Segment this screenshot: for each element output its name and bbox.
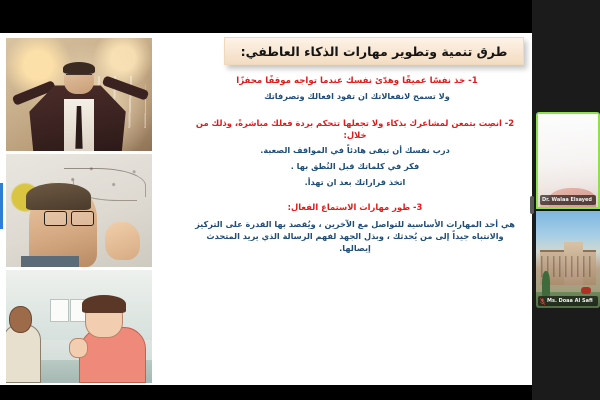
point-1-line-1: ولا تسمح لانفعالاتك ان تقود افعالك وتصرف…: [192, 91, 522, 103]
slide-title: طرق تنمية وتطوير مهارات الذكاء العاطفي:: [241, 44, 508, 59]
video-bg-palm-tree: [542, 271, 550, 296]
thinking-man-brain-gears-photo: [6, 154, 152, 267]
video-tile-speaker[interactable]: Dr. Walaa Elsayed: [536, 112, 600, 209]
point-1-heading: 1- خذ نفسًا عميقًا وهدّئ نفسك عندما تواج…: [192, 75, 522, 87]
point-2-heading: 2- انصِت بتمعن لمشاعرك بذكاء ولا تجعلها …: [192, 117, 518, 141]
point-3-heading: 3- طور مهارات الاستماع الفعال:: [192, 201, 518, 213]
businessman-arms-open-photo: [6, 38, 152, 151]
shared-slide: طرق تنمية وتطوير مهارات الذكاء العاطفي: …: [0, 33, 532, 385]
video-tile-name: Dr. Walaa Elsayed: [542, 197, 592, 203]
slide-image-column: [0, 33, 152, 385]
point-2-line-2: فكر في كلماتك قبل النُطق بها .: [192, 161, 518, 173]
screen-share-stage: طرق تنمية وتطوير مهارات الذكاء العاطفي: …: [0, 0, 532, 400]
photo-hair: [63, 62, 95, 74]
illustration-person-right-hair: [82, 295, 126, 313]
meeting-app-root: طرق تنمية وتطوير مهارات الذكاء العاطفي: …: [0, 0, 600, 400]
video-tile-participant[interactable]: Ms. Doaa Al Safi: [536, 211, 600, 308]
point-3-line-1: هي أحد المهارات الأساسية للتواصل مع الآخ…: [190, 219, 520, 255]
photo-glasses: [44, 211, 94, 225]
illustration-picture-frame: [50, 299, 69, 322]
photo-hair: [26, 183, 90, 210]
mic-muted-icon: [540, 298, 545, 305]
point-2-line-1: درب نفسك أن تبقى هادئاً في المواقف الصعب…: [192, 145, 518, 157]
slide-title-banner: طرق تنمية وتطوير مهارات الذكاء العاطفي:: [224, 37, 524, 65]
video-bg-car: [581, 287, 591, 295]
illustration-person-left-head: [9, 306, 32, 333]
photo-hand: [105, 222, 140, 260]
slide-left-accent-bar: [0, 183, 3, 229]
photo-collar: [21, 256, 79, 267]
video-tile-name-badge: Dr. Walaa Elsayed: [540, 195, 596, 205]
illustration-person-right-hand: [69, 338, 88, 358]
illustration-person-left-body: [6, 324, 41, 383]
two-people-listening-illustration: [6, 270, 152, 383]
slide-text-area: طرق تنمية وتطوير مهارات الذكاء العاطفي: …: [152, 33, 532, 385]
video-tile-name: Ms. Doaa Al Safi: [547, 298, 593, 304]
video-panel-drag-handle[interactable]: [530, 196, 534, 214]
video-tile-name-badge: Ms. Doaa Al Safi: [538, 296, 598, 306]
photo-glasses: [66, 74, 92, 80]
video-bg-windows: [541, 256, 595, 277]
point-2-line-3: اتخذ قراراتك بعد ان تهدأ.: [192, 177, 518, 189]
video-thumbnail-strip[interactable]: Dr. Walaa Elsayed Ms. Doaa: [536, 112, 600, 308]
